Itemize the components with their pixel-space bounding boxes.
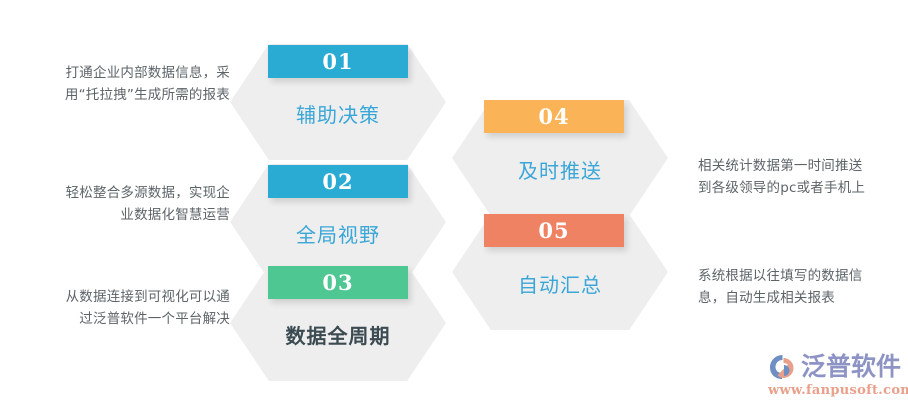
description-05-line-2: 息，自动生成相关报表 [698, 287, 908, 309]
logo-wordmark: 泛普软件 [801, 353, 901, 381]
description-03-line-1: 从数据连接到可视化可以通 [8, 286, 230, 308]
logo-row: 泛普软件 [768, 352, 902, 382]
description-03: 从数据连接到可视化可以通 过泛普软件一个平台解决 [8, 286, 230, 330]
hexagon-title-05: 自动汇总 [452, 272, 668, 298]
description-01-line-1: 打通企业内部数据信息，采 [8, 62, 230, 84]
description-04: 相关统计数据第一时间推送 到各级领导的pc或者手机上 [698, 155, 908, 199]
badge-number-03: 03 [268, 266, 408, 299]
description-04-line-1: 相关统计数据第一时间推送 [698, 155, 908, 177]
description-05: 系统根据以往填写的数据信 息，自动生成相关报表 [698, 265, 908, 309]
logo-website-url: www.fanpusoft.com [768, 383, 902, 399]
description-01-line-2: 用“托拉拽”生成所需的报表 [8, 84, 230, 106]
description-02: 轻松整合多源数据，实现企 业数据化智慧运营 [8, 182, 230, 226]
description-04-line-2: 到各级领导的pc或者手机上 [698, 177, 908, 199]
company-logo: 泛普软件 www.fanpusoft.com [768, 352, 902, 400]
hexagon-title-04: 及时推送 [452, 158, 668, 184]
fanpu-swoosh-icon [768, 353, 798, 381]
description-02-line-2: 业数据化智慧运营 [8, 204, 230, 226]
badge-number-02: 02 [268, 165, 408, 198]
badge-number-04: 04 [484, 100, 624, 133]
hexagon-title-01: 辅助决策 [230, 102, 446, 128]
hexagon-title-02: 全局视野 [230, 222, 446, 248]
description-01: 打通企业内部数据信息，采 用“托拉拽”生成所需的报表 [8, 62, 230, 106]
hexagon-title-03: 数据全周期 [230, 323, 446, 349]
description-03-line-2: 过泛普软件一个平台解决 [8, 308, 230, 330]
badge-number-01: 01 [268, 45, 408, 78]
badge-number-05: 05 [484, 214, 624, 247]
description-05-line-1: 系统根据以往填写的数据信 [698, 265, 908, 287]
description-02-line-1: 轻松整合多源数据，实现企 [8, 182, 230, 204]
diagram-canvas: 辅助决策 01 打通企业内部数据信息，采 用“托拉拽”生成所需的报表 全局视野 … [0, 0, 908, 407]
